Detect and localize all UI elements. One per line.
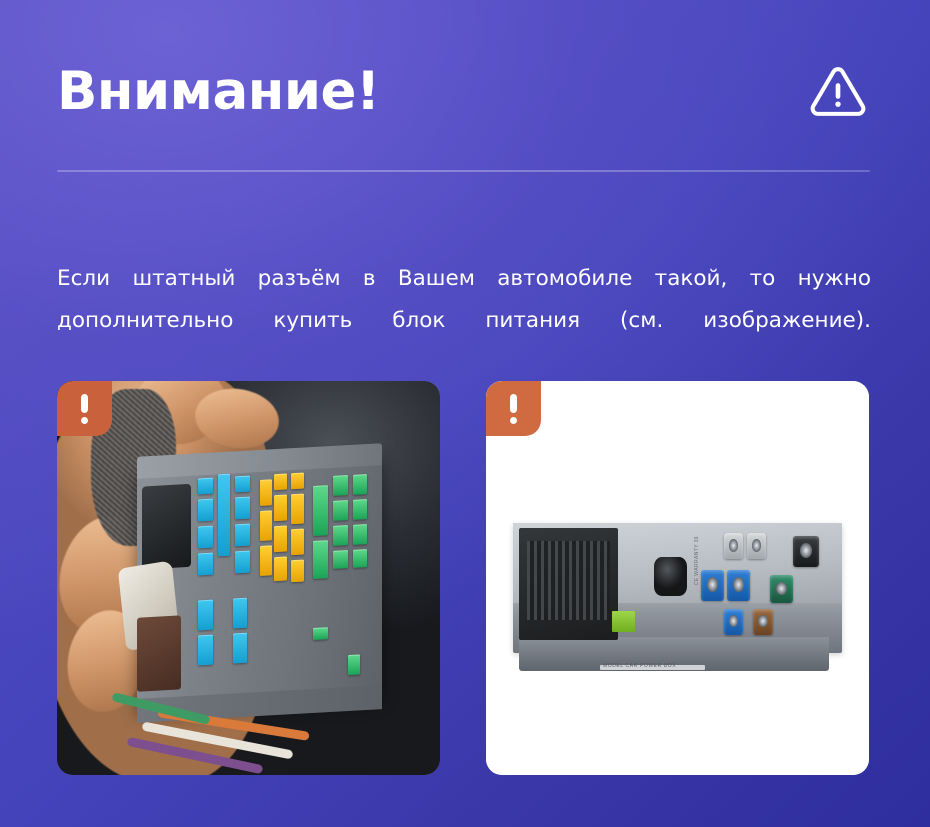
power-supply-photo-card[interactable]: MODEL CAR POWER BOX CE WARRANTY 36 [486,381,869,775]
page-title: Внимание! [57,65,380,118]
blue-fakra-socket [701,570,724,601]
black-socket [793,536,819,567]
exclamation-icon [510,394,517,424]
green-key-chip [612,611,635,632]
round-knob [654,557,687,596]
grey-antenna-socket [747,533,767,559]
module-horizontal-text: MODEL CAR POWER BOX [603,663,676,669]
blue-fakra-socket [727,570,750,601]
exclamation-badge [57,381,112,436]
grey-antenna-socket [724,533,744,559]
banner-header: Внимание! [57,52,871,130]
photo-card-list: MODEL CAR POWER BOX CE WARRANTY 36 [57,381,869,777]
warning-triangle-icon [807,60,869,122]
connector-pin-grid [527,541,610,619]
connector-housing [137,453,382,711]
header-divider [57,170,870,172]
brown-connector-block [137,616,181,692]
connector-dark-block [142,483,191,569]
module-black-connector [519,528,618,640]
brown-fakra-socket [753,609,773,635]
module-vertical-text: CE WARRANTY 36 [694,536,700,585]
exclamation-icon [81,394,88,424]
green-fakra-socket [770,575,793,604]
exclamation-badge [486,381,541,436]
car-connector-photo-card[interactable] [57,381,440,775]
module-skirt: MODEL CAR POWER BOX [519,637,829,671]
blue-fakra-socket [724,609,744,635]
banner-description: Если штатный разъём в Вашем автомобиле т… [57,258,871,384]
warning-banner: Внимание! Если штатный разъём в Вашем ав… [0,0,930,827]
power-supply-module: MODEL CAR POWER BOX CE WARRANTY 36 [513,523,842,653]
power-supply-image: MODEL CAR POWER BOX CE WARRANTY 36 [486,381,869,775]
car-connector-image [57,381,440,775]
